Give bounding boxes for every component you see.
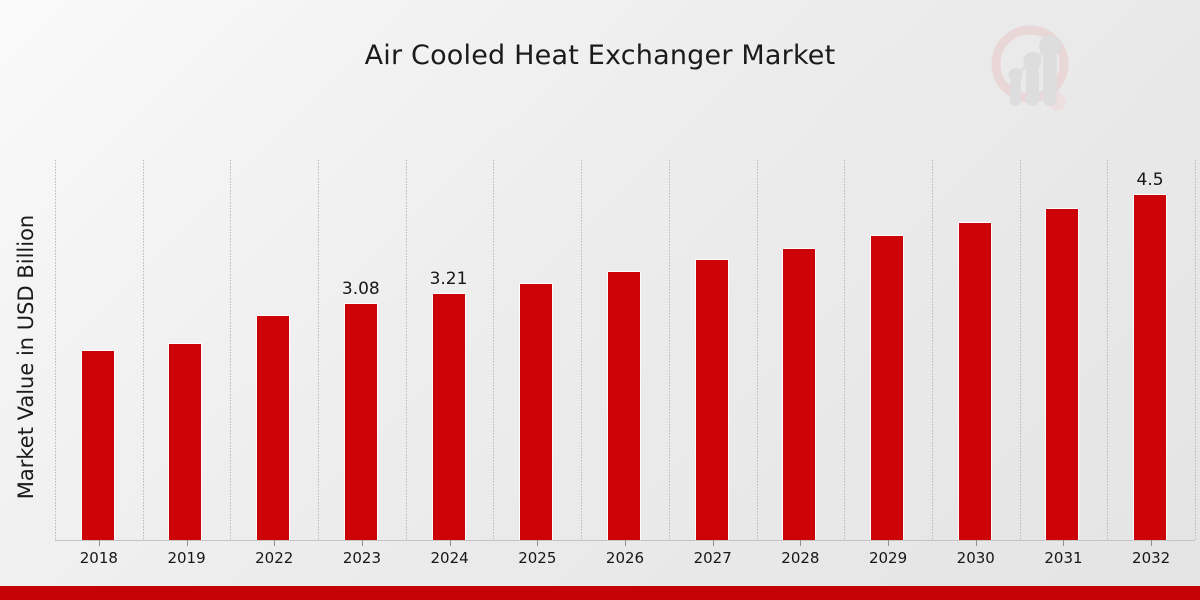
bar[interactable] <box>256 315 290 540</box>
bar-slot <box>932 160 1018 540</box>
x-tick-label: 2018 <box>54 549 144 567</box>
bar[interactable] <box>344 303 378 540</box>
bar[interactable] <box>519 283 553 540</box>
x-tick-mark <box>1063 540 1064 546</box>
x-tick-mark <box>187 540 188 546</box>
bar-slot <box>581 160 667 540</box>
x-tick-label: 2026 <box>580 549 670 567</box>
bar-slot <box>1020 160 1106 540</box>
x-tick-mark <box>362 540 363 546</box>
brand-logo <box>982 20 1088 116</box>
x-tick-mark <box>976 540 977 546</box>
chart-figure: Air Cooled Heat Exchanger Market Mark <box>0 0 1200 600</box>
x-tick-label: 2025 <box>492 549 582 567</box>
x-tick-label: 2028 <box>755 549 845 567</box>
x-tick-mark <box>713 540 714 546</box>
bar[interactable] <box>81 350 115 540</box>
y-axis-title: Market Value in USD Billion <box>14 157 38 557</box>
x-tick-mark <box>537 540 538 546</box>
bar[interactable] <box>958 222 992 540</box>
bar-value-label: 3.08 <box>321 279 401 299</box>
bar[interactable] <box>870 235 904 540</box>
bar[interactable] <box>168 343 202 540</box>
bar-slot: 4.5 <box>1107 160 1193 540</box>
bar[interactable] <box>695 259 729 540</box>
x-tick-label: 2022 <box>229 549 319 567</box>
x-tick-label: 2031 <box>1018 549 1108 567</box>
bar-slot <box>230 160 316 540</box>
bar-slot <box>669 160 755 540</box>
x-tick-label: 2019 <box>142 549 232 567</box>
x-tick-mark <box>625 540 626 546</box>
bar-slot <box>143 160 229 540</box>
bar[interactable] <box>782 248 816 540</box>
gridline <box>1195 160 1196 540</box>
x-tick-label: 2027 <box>668 549 758 567</box>
x-tick-mark <box>888 540 889 546</box>
x-tick-label: 2032 <box>1106 549 1196 567</box>
bar[interactable] <box>607 271 641 540</box>
x-tick-mark <box>450 540 451 546</box>
bar-value-label: 3.21 <box>409 269 489 289</box>
x-tick-label: 2030 <box>931 549 1021 567</box>
bar-value-label: 4.5 <box>1110 170 1190 190</box>
x-tick-label: 2023 <box>317 549 407 567</box>
x-tick-mark <box>274 540 275 546</box>
bar[interactable] <box>1045 208 1079 540</box>
bar[interactable] <box>1133 194 1167 540</box>
plot-area: 3.083.214.5 <box>55 160 1195 540</box>
x-tick-mark <box>1151 540 1152 546</box>
footer-bar <box>0 586 1200 600</box>
x-tick-label: 2029 <box>843 549 933 567</box>
bar-slot: 3.08 <box>318 160 404 540</box>
bar-slot <box>844 160 930 540</box>
bar-slot <box>493 160 579 540</box>
bar-slot: 3.21 <box>406 160 492 540</box>
x-tick-label: 2024 <box>405 549 495 567</box>
x-tick-mark <box>99 540 100 546</box>
bar-slot <box>757 160 843 540</box>
x-tick-mark <box>800 540 801 546</box>
bar[interactable] <box>432 293 466 540</box>
bar-slot <box>55 160 141 540</box>
